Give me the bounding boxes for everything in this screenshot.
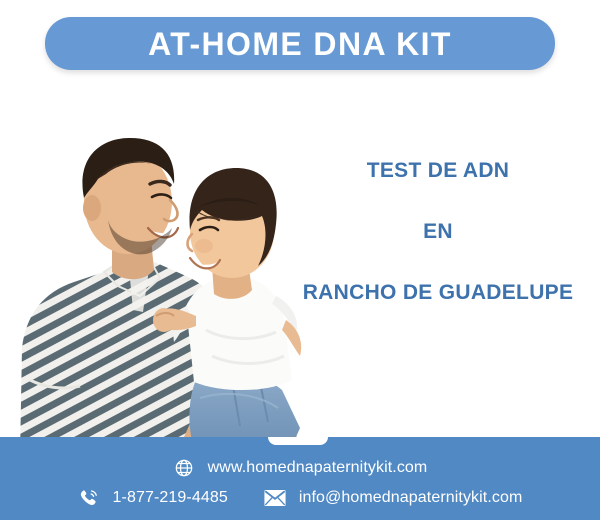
footer-row-phone-email: 1-877-219-4485 info@homednapaternitykit.…: [0, 487, 600, 509]
globe-icon: [173, 457, 195, 479]
footer-row-website: www.homednapaternitykit.com: [0, 457, 600, 479]
phone-text: 1-877-219-4485: [113, 489, 228, 507]
phone-contact[interactable]: 1-877-219-4485: [78, 487, 228, 509]
header-pill: AT-HOME DNA KIT: [45, 17, 555, 70]
page-title: AT-HOME DNA KIT: [148, 28, 452, 60]
contact-footer: www.homednapaternitykit.com 1-877-219-44…: [0, 437, 600, 520]
footer-notch: [268, 437, 328, 445]
family-photo: [0, 80, 320, 455]
email-text: info@homednapaternitykit.com: [299, 489, 523, 507]
headline-line-2: EN: [288, 221, 588, 242]
headline-block: TEST DE ADN EN RANCHO DE GUADELUPE: [288, 160, 588, 303]
email-contact[interactable]: info@homednapaternitykit.com: [264, 487, 523, 509]
phone-icon: [78, 487, 100, 509]
website-text: www.homednapaternitykit.com: [208, 459, 428, 477]
promo-banner: AT-HOME DNA KIT: [0, 0, 600, 520]
website-contact[interactable]: www.homednapaternitykit.com: [173, 457, 428, 479]
headline-line-1: TEST DE ADN: [288, 160, 588, 181]
headline-line-3: RANCHO DE GUADELUPE: [288, 282, 588, 303]
envelope-icon: [264, 487, 286, 509]
